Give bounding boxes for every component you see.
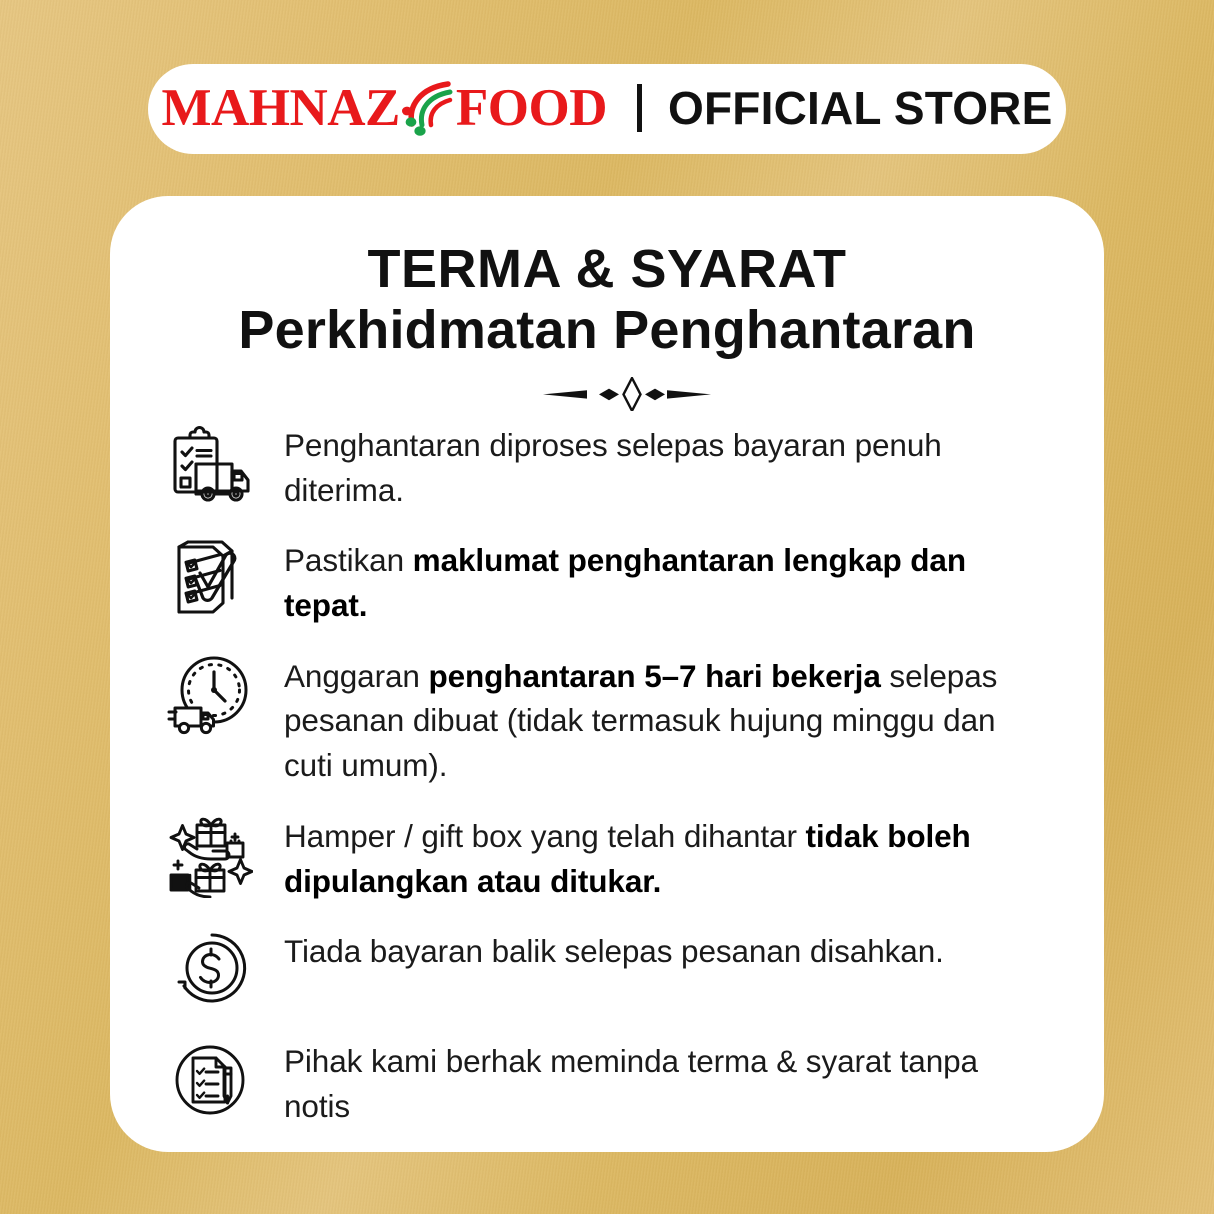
list-item-text-prefix: Hamper / gift box yang telah dihantar — [284, 818, 806, 854]
page-title: TERMA & SYARAT — [162, 240, 1052, 298]
list-item-text-prefix: Tiada bayaran balik selepas pesanan disa… — [284, 933, 944, 969]
list-item-text: Pihak kami berhak meminda terma & syarat… — [284, 1035, 1052, 1128]
list-item: Anggaran penghantaran 5–7 hari bekerja s… — [162, 650, 1052, 788]
gift-boxes-hands-icon — [162, 810, 258, 898]
page-subtitle: Perkhidmatan Penghantaran — [162, 300, 1052, 360]
official-store-label: OFFICIAL STORE — [668, 85, 1052, 131]
promo-graphic-canvas: MAHNAZ FOOD OFFICIAL STORE — [0, 0, 1214, 1214]
list-item-text: Hamper / gift box yang telah dihantar ti… — [284, 810, 1052, 903]
logo-swoosh-icon — [398, 78, 460, 138]
checklist-hand-icon — [162, 534, 258, 622]
list-item-text-prefix: Penghantaran diproses selepas bayaran pe… — [284, 427, 942, 508]
checklist-pencil-circle-icon — [162, 1035, 258, 1123]
clipboard-truck-icon — [162, 419, 258, 507]
brand-logo-row: MAHNAZ FOOD OFFICIAL STORE — [161, 78, 1052, 138]
title-block: TERMA & SYARAT Perkhidmatan Penghantaran — [162, 240, 1052, 411]
list-item: Hamper / gift box yang telah dihantar ti… — [162, 810, 1052, 903]
brand-name-food: FOOD — [456, 82, 607, 135]
list-item: Pastikan maklumat penghantaran lengkap d… — [162, 534, 1052, 627]
brand-separator — [637, 84, 642, 132]
list-item-text: Pastikan maklumat penghantaran lengkap d… — [284, 534, 1052, 627]
list-item-text: Tiada bayaran balik selepas pesanan disa… — [284, 925, 944, 974]
list-item: Tiada bayaran balik selepas pesanan disa… — [162, 925, 1052, 1013]
list-item: Pihak kami berhak meminda terma & syarat… — [162, 1035, 1052, 1128]
list-item-text-prefix: Pihak kami berhak meminda terma & syarat… — [284, 1043, 978, 1124]
list-item-text-prefix: Pastikan — [284, 542, 413, 578]
ornamental-divider-icon — [347, 377, 867, 411]
brand-header-pill: MAHNAZ FOOD OFFICIAL STORE — [148, 64, 1066, 154]
clock-truck-icon — [162, 650, 258, 738]
brand-name-mahnaz: MAHNAZ — [161, 82, 399, 135]
list-item-text: Anggaran penghantaran 5–7 hari bekerja s… — [284, 650, 1052, 788]
list-item-text: Penghantaran diproses selepas bayaran pe… — [284, 419, 1052, 512]
list-item-text-bold: penghantaran 5–7 hari bekerja — [428, 658, 880, 694]
terms-list: Penghantaran diproses selepas bayaran pe… — [162, 419, 1052, 1129]
terms-card: TERMA & SYARAT Perkhidmatan Penghantaran — [110, 196, 1104, 1152]
money-back-refund-icon — [162, 925, 258, 1013]
list-item: Penghantaran diproses selepas bayaran pe… — [162, 419, 1052, 512]
list-item-text-prefix: Anggaran — [284, 658, 428, 694]
